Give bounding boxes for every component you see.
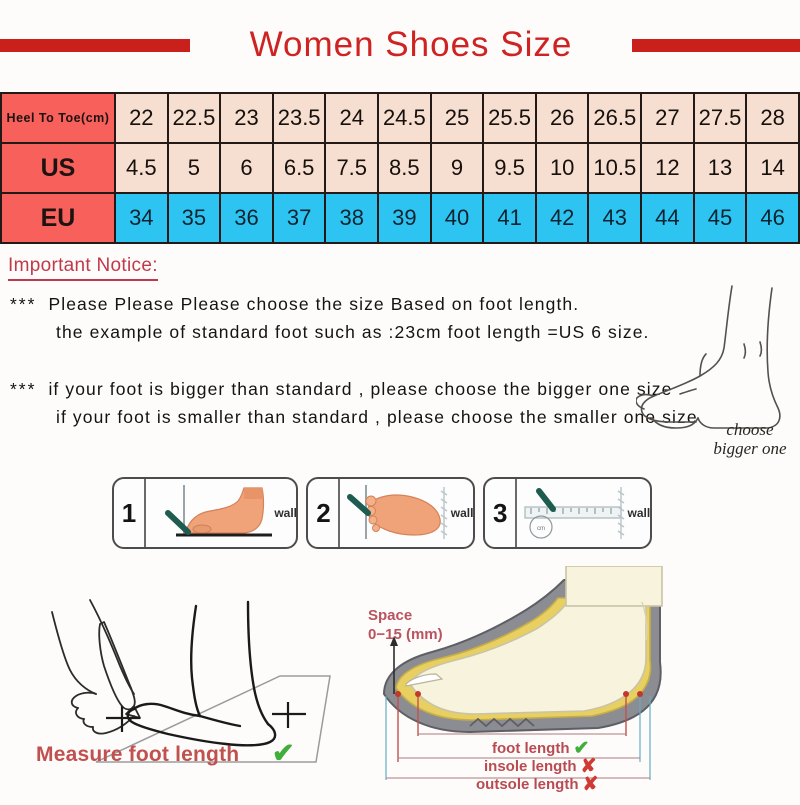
title-rule-left xyxy=(0,39,190,52)
size-chart-page: Women Shoes Size Heel To Toe(cm) 22 22.5… xyxy=(0,0,800,800)
choose-caption-line-2: bigger one xyxy=(700,439,800,458)
cell-eu: 41 xyxy=(483,193,536,243)
cell-eu: 40 xyxy=(431,193,484,243)
row-header-eu: EU xyxy=(1,193,115,243)
step-2-illustration: wall xyxy=(340,479,475,547)
measure-check-icon: ✔ xyxy=(272,738,295,769)
cell-cm: 25 xyxy=(431,93,484,143)
step-3-illustration: cm wall xyxy=(517,479,652,547)
space-label-line-1: Space xyxy=(368,606,443,625)
cell-us: 12 xyxy=(641,143,694,193)
step-panel-3: 3 cm xyxy=(483,477,652,549)
cell-us: 13 xyxy=(694,143,747,193)
cell-cm: 23 xyxy=(220,93,273,143)
cell-cm: 24.5 xyxy=(378,93,431,143)
wall-label-3: wall xyxy=(628,506,651,520)
notice-line-2: the example of standard foot such as :23… xyxy=(56,322,650,343)
cell-cm: 28 xyxy=(746,93,799,143)
length-legend: foot length ✔ insole length ✘ outsole le… xyxy=(484,740,598,794)
measure-steps: 1 wall 2 xyxy=(112,477,652,549)
step-number-3: 3 xyxy=(485,479,517,547)
notice-line-4: if your foot is smaller than standard , … xyxy=(56,407,698,428)
space-label-line-2: 0−15 (mm) xyxy=(368,625,443,644)
cell-eu: 37 xyxy=(273,193,326,243)
cell-cm: 23.5 xyxy=(273,93,326,143)
important-notice-heading: Important Notice: xyxy=(8,255,158,281)
cell-eu: 34 xyxy=(115,193,168,243)
cell-eu: 42 xyxy=(536,193,589,243)
cell-eu: 35 xyxy=(168,193,221,243)
legend-label-foot-length: foot length xyxy=(492,740,569,758)
cell-us: 6 xyxy=(220,143,273,193)
cell-us: 7.5 xyxy=(325,143,378,193)
cross-icon: ✘ xyxy=(581,760,597,774)
cell-cm: 25.5 xyxy=(483,93,536,143)
title-rule-right xyxy=(632,39,800,52)
cell-us: 8.5 xyxy=(378,143,431,193)
wall-label-2: wall xyxy=(451,506,474,520)
cell-eu: 36 xyxy=(220,193,273,243)
wall-label-1: wall xyxy=(274,506,297,520)
choose-caption-line-1: choose xyxy=(700,420,800,439)
row-header-us: US xyxy=(1,143,115,193)
page-title: Women Shoes Size xyxy=(190,25,632,65)
cross-icon: ✘ xyxy=(583,778,599,792)
legend-row-insole-length: insole length ✘ xyxy=(484,758,598,776)
ruler-badge-label: cm xyxy=(537,526,545,532)
step-1-illustration: wall xyxy=(146,479,298,547)
cell-cm: 27.5 xyxy=(694,93,747,143)
check-icon: ✔ xyxy=(573,742,589,756)
table-row-eu: EU 34 35 36 37 38 39 40 41 42 43 44 45 4… xyxy=(1,193,799,243)
cell-eu: 39 xyxy=(378,193,431,243)
step-number-2: 2 xyxy=(308,479,340,547)
notice-stars: *** xyxy=(10,294,36,314)
notice-stars: *** xyxy=(10,379,36,399)
cell-cm: 26 xyxy=(536,93,589,143)
cell-cm: 22.5 xyxy=(168,93,221,143)
notice-line-1: ***Please Please Please choose the size … xyxy=(10,294,579,315)
measure-foot-length-label: Measure foot length xyxy=(36,743,239,767)
legend-label-outsole-length: outsole length xyxy=(476,776,579,794)
step-number-1: 1 xyxy=(114,479,146,547)
cell-eu: 46 xyxy=(746,193,799,243)
step-panel-2: 2 xyxy=(306,477,475,549)
cell-us: 10.5 xyxy=(588,143,641,193)
cell-us: 4.5 xyxy=(115,143,168,193)
cell-cm: 27 xyxy=(641,93,694,143)
notice-line-3: ***if your foot is bigger than standard … xyxy=(10,379,672,400)
notice-line-1-text: Please Please Please choose the size Bas… xyxy=(48,294,579,314)
cell-eu: 38 xyxy=(325,193,378,243)
legend-row-outsole-length: outsole length ✘ xyxy=(476,776,598,794)
cell-cm: 26.5 xyxy=(588,93,641,143)
cell-us: 5 xyxy=(168,143,221,193)
cell-eu: 44 xyxy=(641,193,694,243)
cell-cm: 24 xyxy=(325,93,378,143)
cell-us: 14 xyxy=(746,143,799,193)
cell-eu: 43 xyxy=(588,193,641,243)
cell-us: 9.5 xyxy=(483,143,536,193)
table-row-us: US 4.5 5 6 6.5 7.5 8.5 9 9.5 10 10.5 12 … xyxy=(1,143,799,193)
cell-us: 10 xyxy=(536,143,589,193)
choose-bigger-one-caption: choose bigger one xyxy=(700,420,800,458)
row-header-heel-to-toe: Heel To Toe(cm) xyxy=(1,93,115,143)
cell-cm: 22 xyxy=(115,93,168,143)
size-conversion-table: Heel To Toe(cm) 22 22.5 23 23.5 24 24.5 … xyxy=(0,92,800,244)
page-title-row: Women Shoes Size xyxy=(0,22,800,68)
cell-us: 9 xyxy=(431,143,484,193)
step-panel-1: 1 wall xyxy=(112,477,298,549)
notice-line-3-text: if your foot is bigger than standard , p… xyxy=(48,379,672,399)
cell-eu: 45 xyxy=(694,193,747,243)
table-row-cm: Heel To Toe(cm) 22 22.5 23 23.5 24 24.5 … xyxy=(1,93,799,143)
cell-us: 6.5 xyxy=(273,143,326,193)
legend-label-insole-length: insole length xyxy=(484,758,577,776)
space-annotation: Space 0−15 (mm) xyxy=(368,606,443,644)
